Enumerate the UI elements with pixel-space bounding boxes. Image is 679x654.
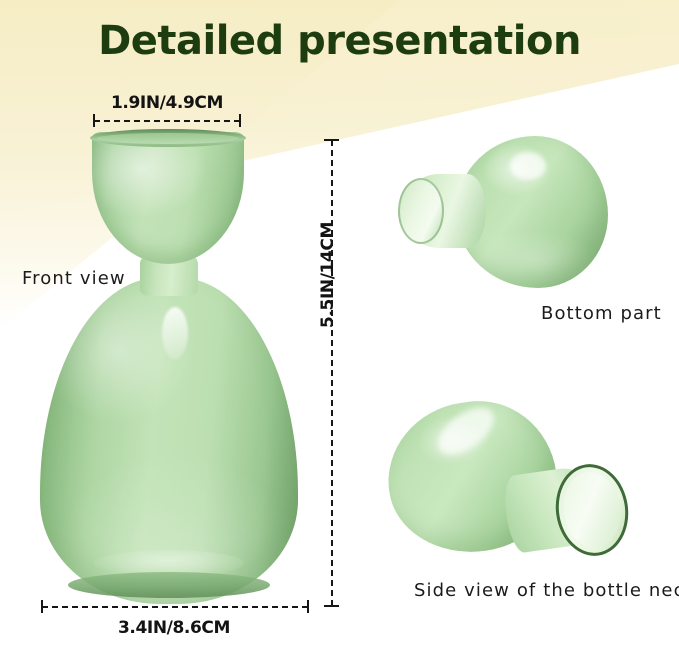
dimension-cap-bottom-left (41, 600, 43, 613)
product-infographic: Detailed presentation 1.9IN/4.9CM 3.4IN/… (0, 0, 679, 654)
product-image-bottom-part (392, 136, 610, 296)
product-image-front-view (40, 132, 312, 604)
dimension-cap-top-right (239, 114, 241, 127)
dimension-label-top-width: 1.9IN/4.9CM (92, 93, 242, 113)
dimension-label-bottom-width: 3.4IN/8.6CM (38, 618, 310, 638)
page-title: Detailed presentation (0, 18, 679, 64)
dimension-line-top-width (94, 120, 240, 122)
dimension-cap-height-bottom (324, 605, 339, 607)
dimension-line-height (331, 140, 333, 606)
vase-cup (92, 132, 244, 264)
dimension-label-height: 5.5IN/14CM (318, 220, 338, 330)
vase-rim-inner (97, 133, 239, 144)
product-image-side-view (388, 396, 638, 572)
bottom-part-highlight (510, 152, 546, 180)
caption-side-view: Side view of the bottle neck (414, 580, 679, 601)
caption-bottom-part: Bottom part (541, 303, 662, 324)
caption-front-view: Front view (22, 268, 126, 289)
vase-foot (68, 572, 270, 598)
dimension-cap-top-left (93, 114, 95, 127)
dimension-cap-bottom-right (307, 600, 309, 613)
bottom-part-mouth (398, 178, 444, 244)
vase-body-highlight (162, 307, 188, 359)
dimension-cap-height-top (324, 139, 339, 141)
dimension-line-bottom-width (42, 606, 308, 608)
